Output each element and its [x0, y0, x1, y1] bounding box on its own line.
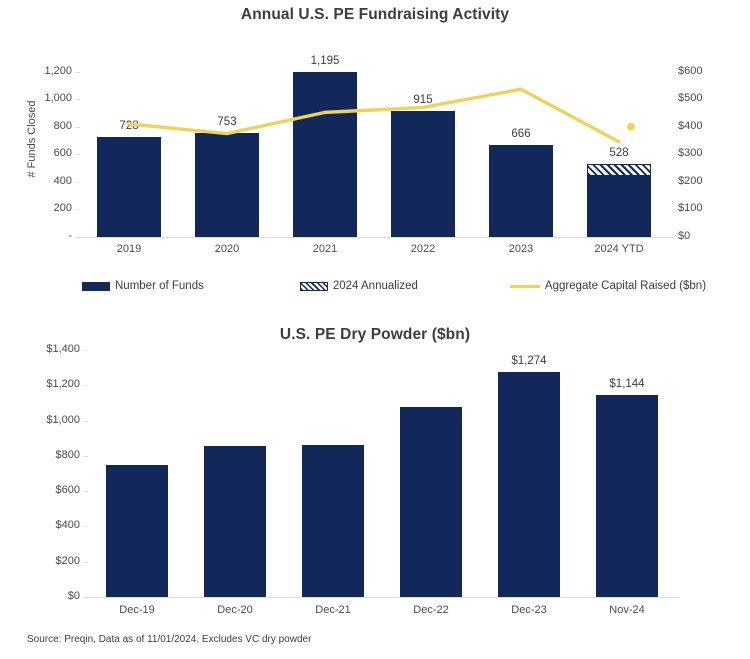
capital-raised-marker-dot	[627, 123, 635, 131]
drypowder-category-label: Dec-21	[283, 604, 383, 616]
drypowder-y-tick-mark	[83, 562, 88, 563]
fundraising-y-tick: 200	[12, 202, 72, 214]
drypowder-category-label: Dec-22	[381, 604, 481, 616]
legend-label-number-of-funds: Number of Funds	[115, 280, 204, 292]
fundraising-y-tick: 600	[12, 147, 72, 159]
fundraising-y2-tick: $200	[678, 175, 738, 187]
drypowder-y-tick: $800	[10, 449, 80, 461]
fundraising-category-label: 2020	[177, 243, 277, 255]
fundraising-y-tick-mark	[75, 154, 80, 155]
drypowder-x-axis-line	[83, 597, 679, 598]
fundraising-y-tick: 1,200	[12, 65, 72, 77]
hatched-navy-bar-icon	[300, 282, 328, 291]
yellow-line-icon	[510, 285, 540, 288]
drypowder-bar	[204, 446, 266, 597]
fundraising-bar	[391, 111, 455, 237]
drypowder-y-tick: $1,200	[10, 378, 80, 390]
drypowder-category-label: Dec-20	[185, 604, 285, 616]
drypowder-data-label: $1,274	[484, 355, 574, 367]
fundraising-y-tick: 800	[12, 120, 72, 132]
drypowder-y-tick-mark	[83, 385, 88, 386]
fundraising-bar	[195, 133, 259, 237]
fundraising-category-label: 2022	[373, 243, 473, 255]
legend-item-aggregate-capital-raised: Aggregate Capital Raised ($bn)	[510, 280, 706, 292]
drypowder-y-tick-mark	[83, 350, 88, 351]
legend-item-2024-annualized: 2024 Annualized	[300, 280, 418, 292]
drypowder-category-label: Dec-23	[479, 604, 579, 616]
fundraising-y2-tick: $0	[678, 230, 738, 242]
fundraising-y2-tick: $400	[678, 120, 738, 132]
fundraising-y-tick: 400	[12, 175, 72, 187]
legend-item-number-of-funds: Number of Funds	[82, 280, 204, 292]
fundraising-y-tick-mark	[75, 72, 80, 73]
fundraising-bar	[293, 72, 357, 237]
fundraising-y-tick-mark	[75, 99, 80, 100]
drypowder-plot-area: $0$200$400$600$800$1,000$1,200$1,400Dec-…	[88, 350, 676, 597]
fundraising-bar	[489, 145, 553, 237]
fundraising-y-tick-mark	[75, 127, 80, 128]
fundraising-y2-tick: $100	[678, 202, 738, 214]
drypowder-y-tick-mark	[83, 491, 88, 492]
fundraising-x-axis-line	[75, 237, 673, 238]
drypowder-chart-title: U.S. PE Dry Powder ($bn)	[0, 318, 750, 344]
fundraising-y2-tick: $600	[678, 65, 738, 77]
legend-label-aggregate-capital-raised: Aggregate Capital Raised ($bn)	[545, 280, 706, 292]
fundraising-data-label: 728	[89, 120, 169, 132]
fundraising-bar	[587, 176, 651, 237]
aggregate-capital-raised-line	[80, 44, 668, 237]
drypowder-y-tick: $1,400	[10, 343, 80, 355]
legend-label-2024-annualized: 2024 Annualized	[333, 280, 418, 292]
drypowder-y-tick-mark	[83, 456, 88, 457]
drypowder-bar	[498, 372, 560, 597]
drypowder-bar	[596, 395, 658, 597]
fundraising-chart-title: Annual U.S. PE Fundraising Activity	[0, 0, 750, 24]
drypowder-y-tick: $200	[10, 555, 80, 567]
fundraising-bar	[97, 137, 161, 237]
source-note: Source: Preqin, Data as of 11/01/2024, E…	[27, 634, 311, 645]
drypowder-bar	[400, 407, 462, 597]
drypowder-y-tick: $0	[10, 590, 80, 602]
drypowder-y-tick-mark	[83, 421, 88, 422]
fundraising-y-tick-mark	[75, 209, 80, 210]
fundraising-y2-tick: $300	[678, 147, 738, 159]
fundraising-category-label: 2024 YTD	[569, 243, 669, 255]
drypowder-category-label: Dec-19	[87, 604, 187, 616]
drypowder-category-label: Nov-24	[577, 604, 677, 616]
solid-navy-bar-icon	[82, 282, 110, 291]
fundraising-category-label: 2019	[79, 243, 179, 255]
drypowder-y-tick: $1,000	[10, 414, 80, 426]
drypowder-y-tick-mark	[83, 526, 88, 527]
fundraising-plot-area: -2004006008001,0001,200$0$100$200$300$40…	[80, 44, 668, 237]
fundraising-y-tick-mark	[75, 182, 80, 183]
drypowder-y-tick: $600	[10, 484, 80, 496]
fundraising-y-tick: -	[12, 230, 72, 242]
drypowder-chart-panel: U.S. PE Dry Powder ($bn) $0$200$400$600$…	[0, 318, 750, 628]
fundraising-data-label: 1,195	[285, 55, 365, 67]
fundraising-data-label: 528	[579, 147, 659, 159]
fundraising-y2-tick: $500	[678, 92, 738, 104]
fundraising-data-label: 666	[481, 128, 561, 140]
fundraising-category-label: 2021	[275, 243, 375, 255]
fundraising-category-label: 2023	[471, 243, 571, 255]
drypowder-y-tick: $400	[10, 519, 80, 531]
fundraising-data-label: 753	[187, 116, 267, 128]
fundraising-annualized-segment	[587, 164, 651, 176]
fundraising-y-tick: 1,000	[12, 92, 72, 104]
fundraising-chart-panel: Annual U.S. PE Fundraising Activity # Fu…	[0, 0, 750, 310]
drypowder-data-label: $1,144	[582, 378, 672, 390]
fundraising-legend: Number of Funds 2024 Annualized Aggregat…	[0, 280, 750, 292]
drypowder-bar	[302, 445, 364, 597]
drypowder-bar	[106, 465, 168, 597]
fundraising-data-label: 915	[383, 94, 463, 106]
